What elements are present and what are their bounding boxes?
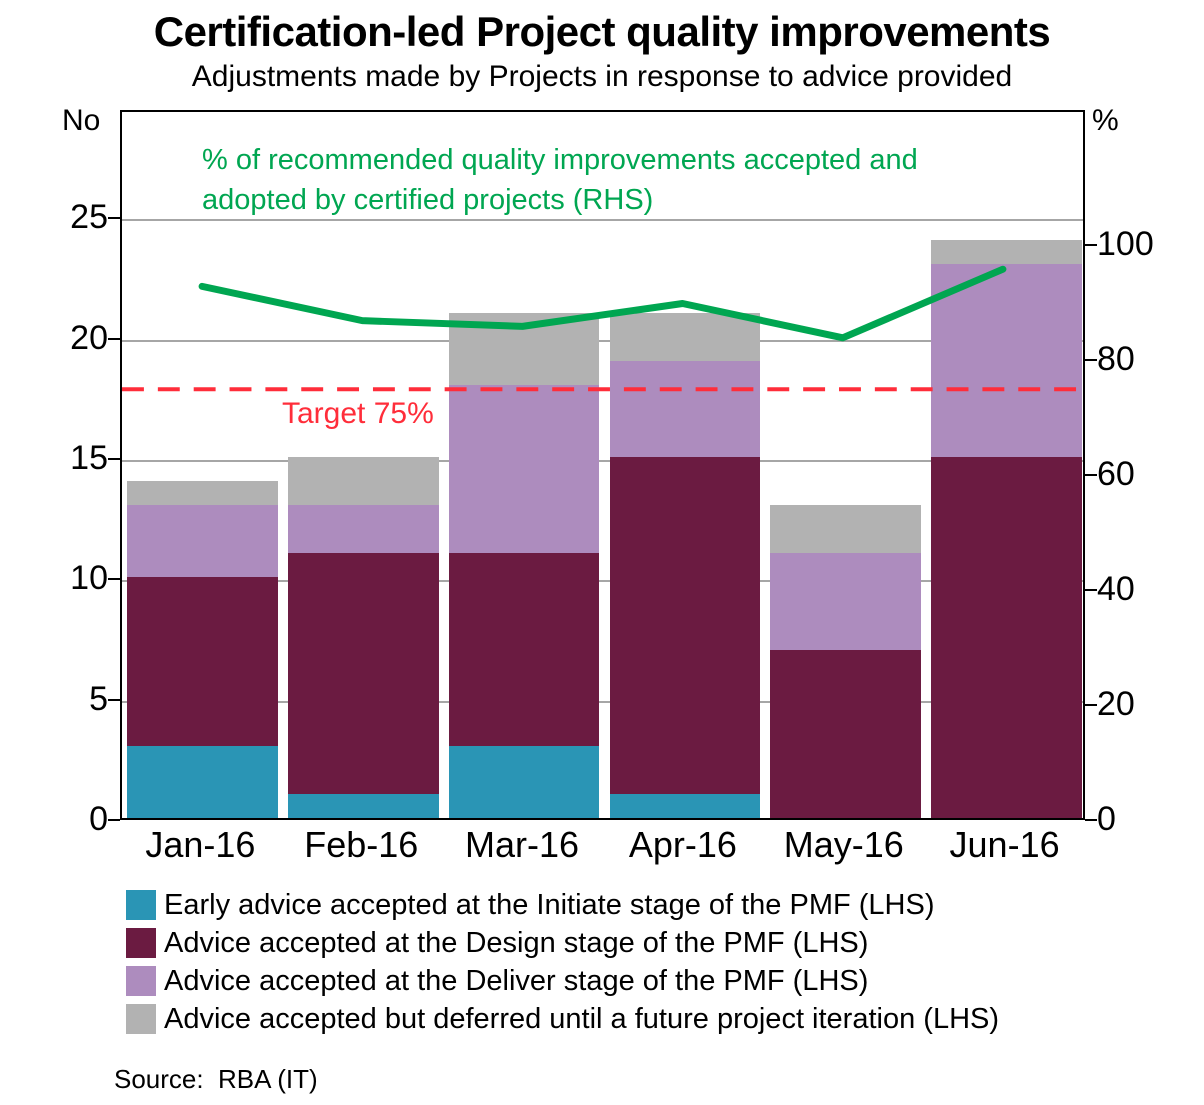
right-tickmark <box>1085 819 1097 821</box>
left-tickmark <box>108 819 120 821</box>
source-value: RBA (IT) <box>218 1064 318 1094</box>
right-tickmark <box>1085 704 1097 706</box>
legend-label: Early advice accepted at the Initiate st… <box>164 890 935 920</box>
legend-item-0[interactable]: Early advice accepted at the Initiate st… <box>126 886 1126 924</box>
page-title: Certification-led Project quality improv… <box>0 8 1204 56</box>
left-axis-tick-5: 5 <box>36 682 108 716</box>
right-axis-tick-60: 60 <box>1097 457 1197 491</box>
legend-swatch-icon <box>126 966 156 996</box>
left-axis-unit-label: No <box>62 104 100 138</box>
legend-label: Advice accepted but deferred until a fut… <box>164 1004 999 1034</box>
left-tickmark <box>108 578 120 580</box>
right-tickmark <box>1085 474 1097 476</box>
line-series-annotation: % of recommended quality improvements ac… <box>202 140 1032 220</box>
legend-item-3[interactable]: Advice accepted but deferred until a fut… <box>126 1000 1126 1038</box>
annotation-line-1: % of recommended quality improvements ac… <box>202 140 1032 180</box>
right-axis-unit-label: % <box>1092 104 1119 138</box>
x-axis-tick-feb-16: Feb-16 <box>281 824 442 866</box>
right-axis-tick-40: 40 <box>1097 572 1197 606</box>
left-tickmark <box>108 217 120 219</box>
right-axis-tick-100: 100 <box>1097 227 1197 261</box>
x-axis-tick-apr-16: Apr-16 <box>603 824 764 866</box>
legend-label: Advice accepted at the Deliver stage of … <box>164 966 868 996</box>
left-axis-tick-25: 25 <box>36 200 108 234</box>
legend-swatch-icon <box>126 890 156 920</box>
x-axis-tick-jan-16: Jan-16 <box>120 824 281 866</box>
page-subtitle: Adjustments made by Projects in response… <box>0 60 1204 94</box>
legend-swatch-icon <box>126 928 156 958</box>
source-label: Source: <box>114 1064 218 1095</box>
x-axis-tick-mar-16: Mar-16 <box>442 824 603 866</box>
right-axis-tick-0: 0 <box>1097 802 1197 836</box>
chart-plot-area: Target 75% % of recommended quality impr… <box>120 110 1085 820</box>
left-axis-tick-10: 10 <box>36 561 108 595</box>
left-tickmark <box>108 338 120 340</box>
right-tickmark <box>1085 359 1097 361</box>
annotation-line-2: adopted by certified projects (RHS) <box>202 180 1032 220</box>
x-axis-tick-may-16: May-16 <box>763 824 924 866</box>
left-tickmark <box>108 699 120 701</box>
legend-label: Advice accepted at the Design stage of t… <box>164 928 868 958</box>
x-axis-tick-jun-16: Jun-16 <box>924 824 1085 866</box>
target-annotation-label: Target 75% <box>282 397 434 431</box>
left-axis-tick-20: 20 <box>36 321 108 355</box>
right-axis-tick-20: 20 <box>1097 687 1197 721</box>
left-axis-tick-15: 15 <box>36 441 108 475</box>
legend-item-2[interactable]: Advice accepted at the Deliver stage of … <box>126 962 1126 1000</box>
legend-swatch-icon <box>126 1004 156 1034</box>
source-note: Source:RBA (IT) <box>114 1064 318 1095</box>
right-axis-tick-80: 80 <box>1097 342 1197 376</box>
left-axis-tick-0: 0 <box>36 802 108 836</box>
chart-legend: Early advice accepted at the Initiate st… <box>126 886 1126 1038</box>
right-tickmark <box>1085 589 1097 591</box>
right-tickmark <box>1085 244 1097 246</box>
legend-item-1[interactable]: Advice accepted at the Design stage of t… <box>126 924 1126 962</box>
left-tickmark <box>108 458 120 460</box>
